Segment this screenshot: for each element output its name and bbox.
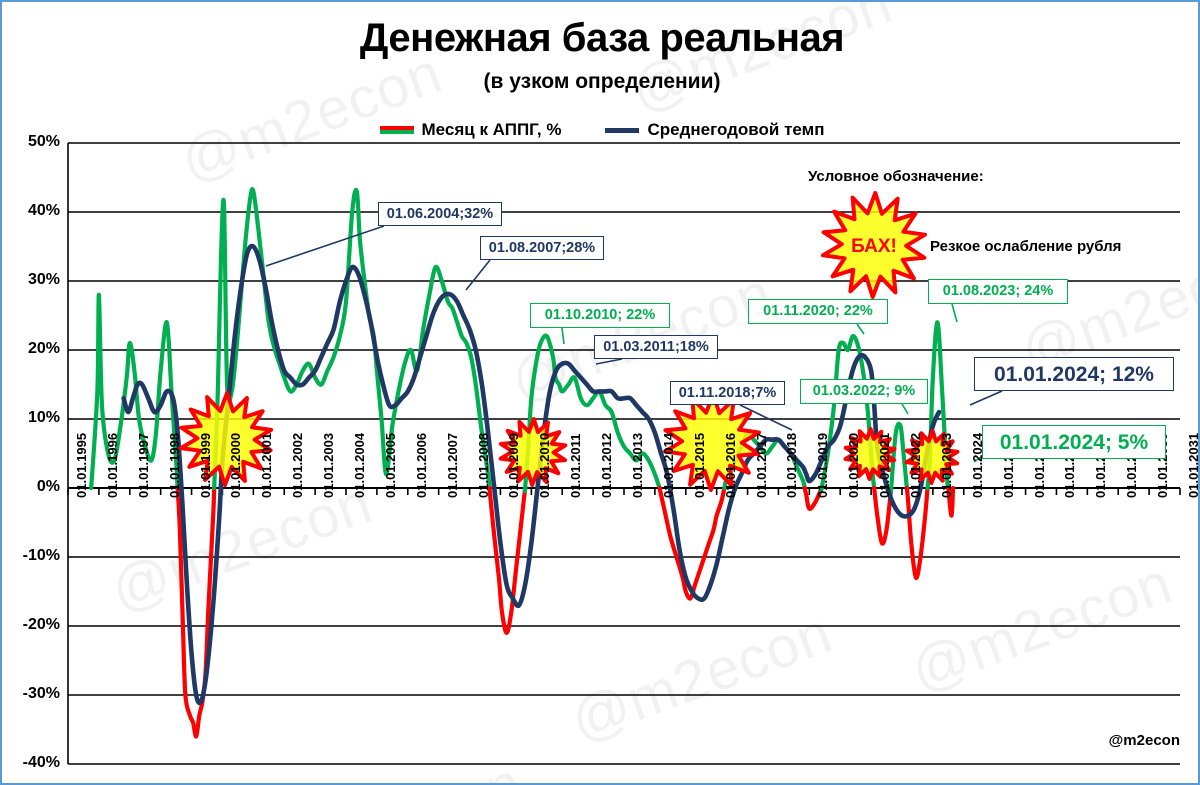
chart-annotation: 01.11.2020; 22% [748, 299, 888, 324]
x-axis-tick-label: 01.01.2006 [414, 433, 429, 498]
y-axis-tick-label: -30% [2, 685, 60, 703]
y-axis-tick-label: 50% [2, 133, 60, 151]
x-axis-tick-label: 01.01.2011 [568, 434, 583, 498]
x-axis-tick-label: 01.01.2002 [290, 433, 305, 498]
x-axis-tick-label: 01.01.1997 [136, 433, 151, 498]
x-axis-tick-label: 01.01.1999 [198, 433, 213, 498]
x-axis-tick-label: 01.01.2016 [723, 433, 738, 498]
chart-annotation: 01.01.2024; 12% [974, 357, 1174, 391]
x-axis-tick-label: 01.01.2023 [939, 433, 954, 498]
chart-annotation: 01.11.2018;7% [670, 381, 785, 405]
x-axis-tick-label: 01.01.2017 [754, 433, 769, 498]
x-axis-tick-label: 01.01.2009 [506, 433, 521, 498]
y-axis-tick-label: -20% [2, 616, 60, 634]
chart-canvas: БАХ! [2, 2, 1200, 785]
x-axis-tick-label: 01.01.1998 [167, 433, 182, 498]
bang-label: БАХ! [851, 236, 897, 257]
x-axis-tick-label: 01.01.1995 [74, 433, 89, 498]
x-axis-tick-label: 01.01.2005 [383, 433, 398, 498]
x-axis-tick-label: 01.01.2031 [1186, 433, 1200, 498]
chart-annotation: 01.03.2022; 9% [800, 379, 928, 404]
chart-annotation: 01.03.2011;18% [594, 335, 718, 359]
chart-window: @m2econ @m2econ @m2econ @m2econ @m2econ … [0, 0, 1200, 785]
x-axis-tick-label: 01.01.2018 [784, 433, 799, 498]
x-axis-tick-label: 01.01.2012 [599, 433, 614, 498]
x-axis-tick-label: 01.01.2008 [476, 433, 491, 498]
y-axis-tick-label: 10% [2, 409, 60, 427]
x-axis-tick-label: 01.01.2015 [692, 433, 707, 498]
x-axis-tick-label: 01.01.2010 [537, 433, 552, 498]
x-axis-tick-label: 01.01.2021 [877, 433, 892, 498]
bang-marker [181, 393, 271, 485]
chart-annotation: 01.10.2010; 22% [530, 303, 670, 328]
x-axis-tick-label: 01.01.2001 [259, 433, 274, 498]
x-axis-tick-label: 01.01.2022 [908, 433, 923, 498]
x-axis-tick-label: 01.01.2007 [445, 433, 460, 498]
x-axis-tick-label: 01.01.2014 [661, 433, 676, 498]
y-axis-tick-label: 20% [2, 340, 60, 358]
x-axis-tick-label: 01.01.2019 [815, 433, 830, 498]
x-axis-tick-label: 01.01.2004 [352, 433, 367, 498]
x-axis-tick-label: 01.01.2020 [846, 433, 861, 498]
chart-annotation: 01.01.2024; 5% [982, 425, 1166, 459]
chart-annotation: 01.08.2007;28% [480, 236, 604, 260]
chart-annotation: 01.08.2023; 24% [928, 279, 1068, 304]
bang-marker [665, 394, 759, 490]
y-axis-tick-label: 30% [2, 271, 60, 289]
y-axis-tick-label: 40% [2, 202, 60, 220]
chart-annotation: 01.06.2004;32% [378, 202, 502, 226]
x-axis-tick-label: 01.01.2000 [228, 433, 243, 498]
y-axis-tick-label: 0% [2, 478, 60, 496]
x-axis-tick-label: 01.01.2003 [321, 433, 336, 498]
x-axis-tick-label: 01.01.1996 [105, 433, 120, 498]
y-axis-tick-label: -10% [2, 547, 60, 565]
y-axis-tick-label: -40% [2, 754, 60, 772]
x-axis-tick-label: 01.01.2013 [630, 433, 645, 498]
